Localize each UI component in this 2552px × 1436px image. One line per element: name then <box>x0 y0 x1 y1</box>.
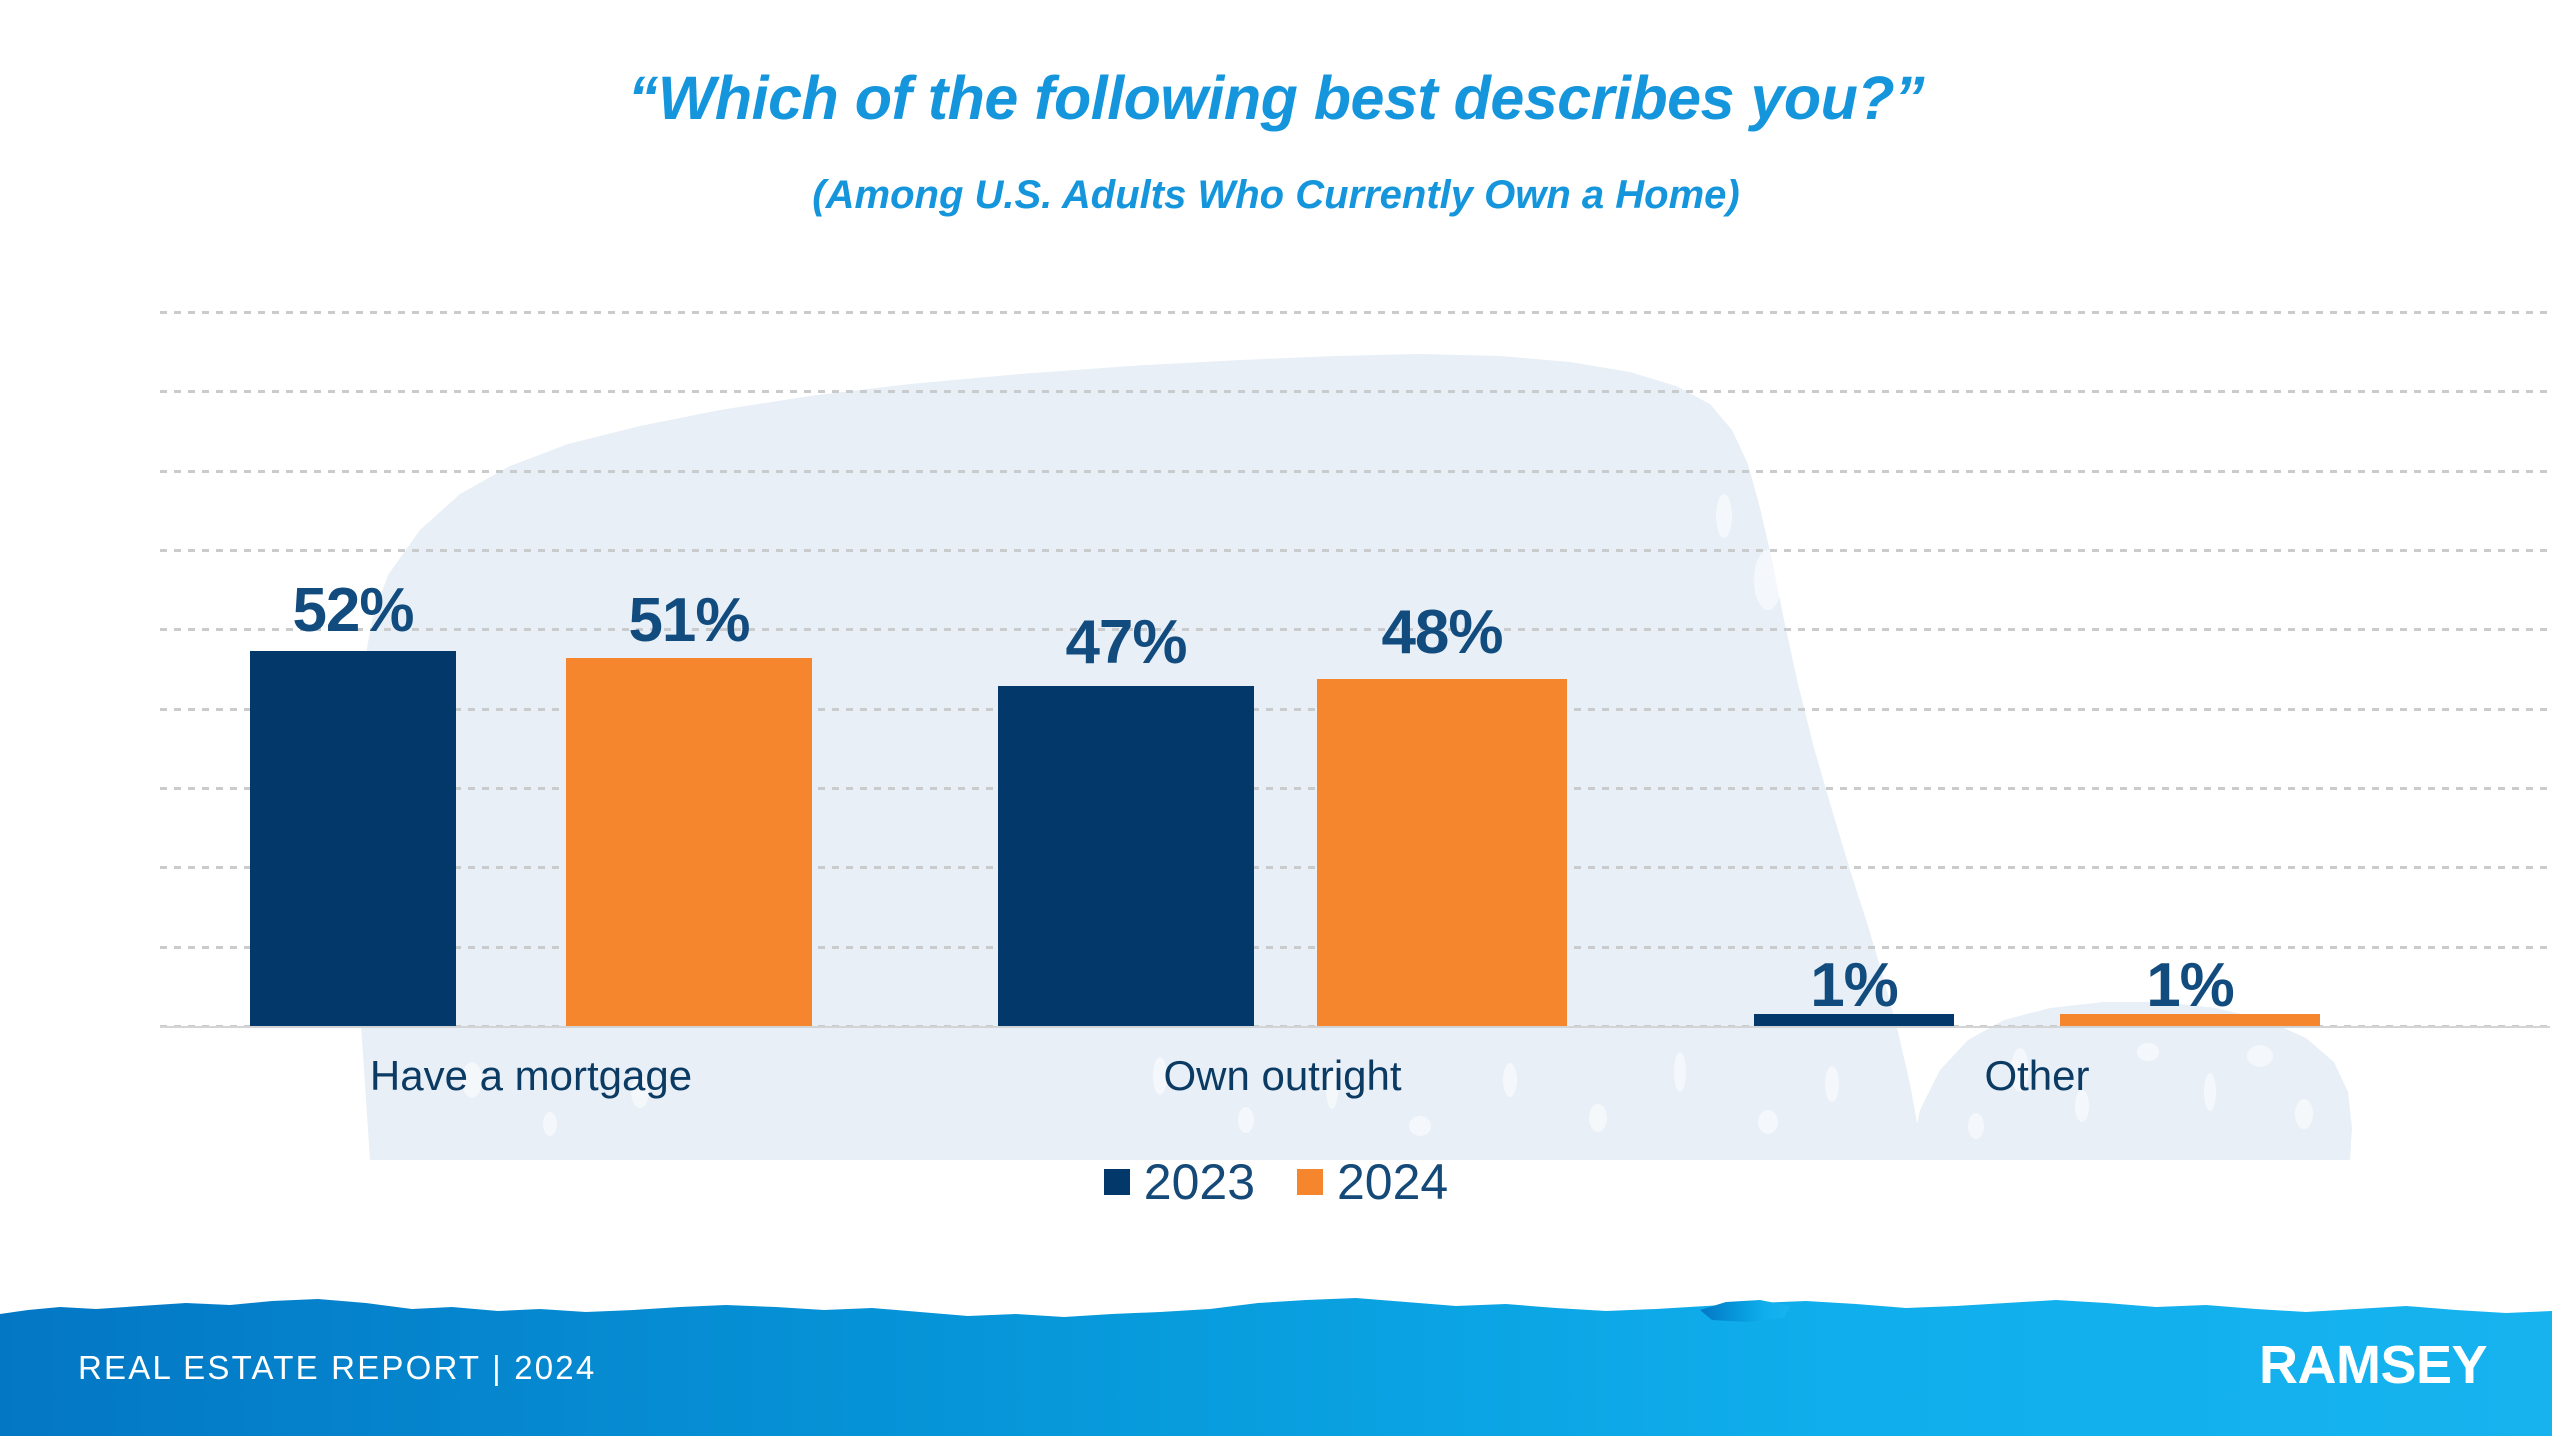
chart-subtitle: (Among U.S. Adults Who Currently Own a H… <box>0 175 2552 215</box>
legend-swatch-icon-2024 <box>1297 1169 1323 1195</box>
legend-item-2024[interactable]: 2024 <box>1297 1157 1448 1207</box>
footer-report-label: REAL ESTATE REPORT | 2024 <box>78 1351 596 1384</box>
legend-swatch-icon-2023 <box>1104 1169 1130 1195</box>
category-label-other: Other <box>1754 1055 2320 1097</box>
footer-band: REAL ESTATE REPORT | 2024 RAMSEY <box>0 1276 2552 1436</box>
legend-label-2024: 2024 <box>1337 1157 1448 1207</box>
chart-legend: 2023 2024 <box>0 1157 2552 1207</box>
ramsey-brand-logo: RAMSEY <box>2259 1338 2487 1392</box>
category-label-have-a-mortgage: Have a mortgage <box>250 1055 812 1097</box>
category-label-own-outright: Own outright <box>998 1055 1567 1097</box>
legend-item-2023[interactable]: 2023 <box>1104 1157 1255 1207</box>
page-title: “Which of the following best describes y… <box>0 68 2552 129</box>
chart-header: “Which of the following best describes y… <box>0 0 2552 250</box>
legend-label-2023: 2023 <box>1144 1157 1255 1207</box>
